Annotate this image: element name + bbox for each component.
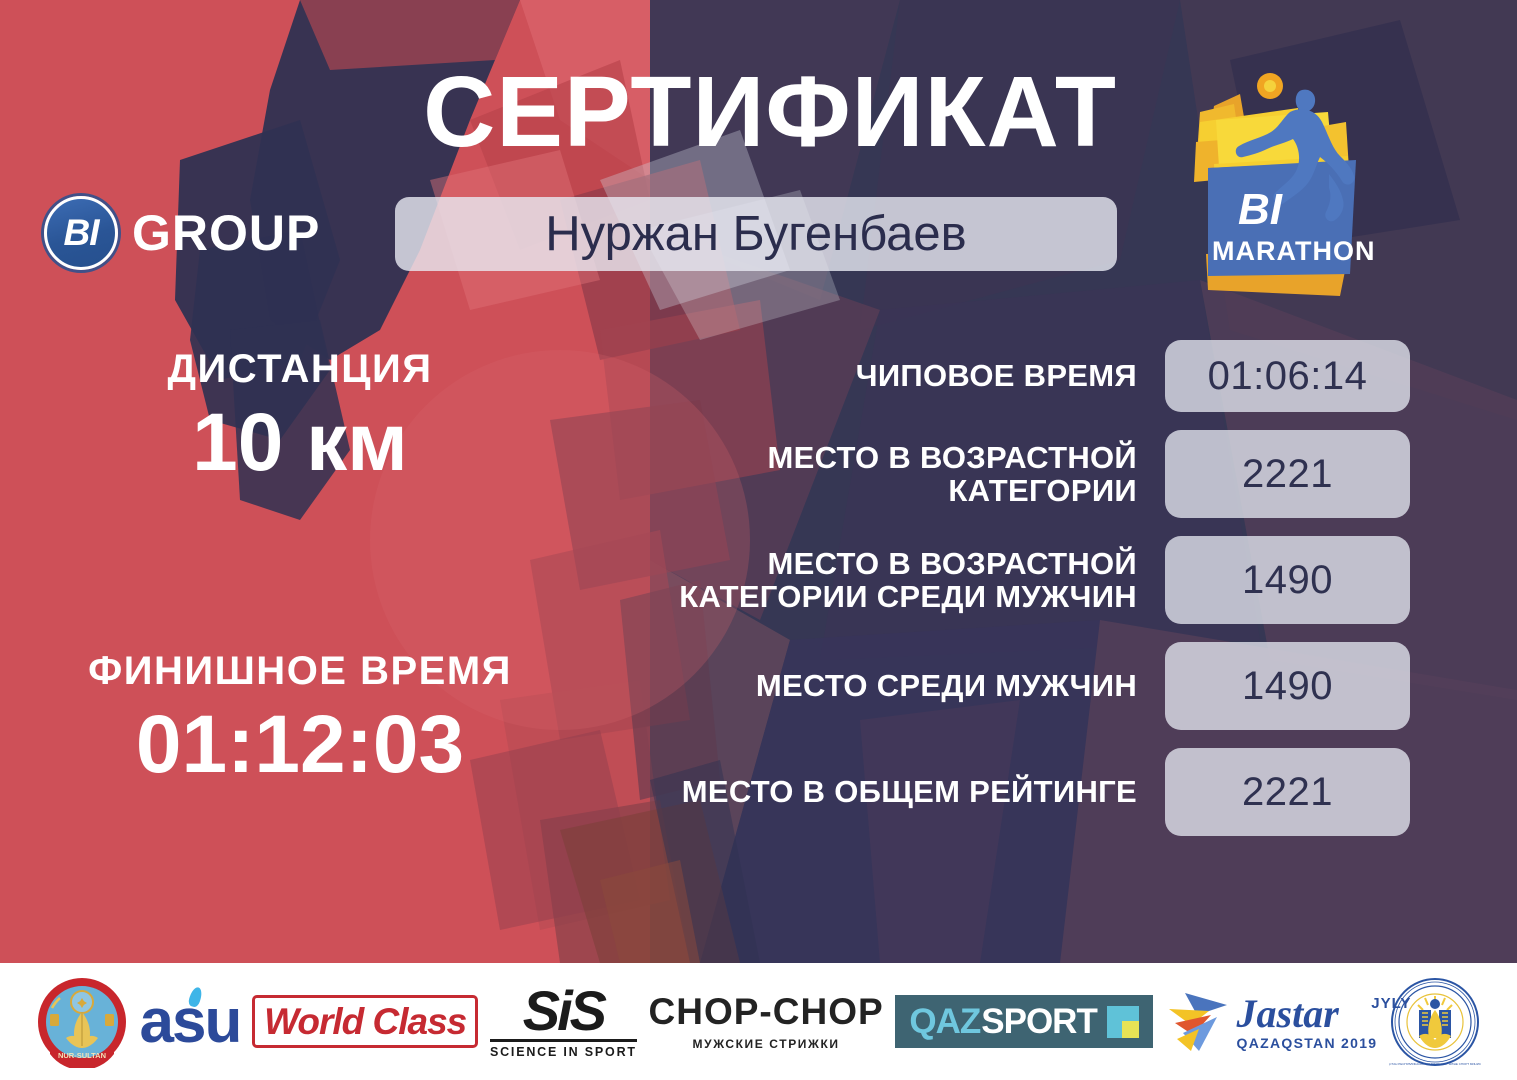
marathon-logo-bi: BI bbox=[1238, 185, 1283, 234]
stat-row: МЕСТО В ВОЗРАСТНОЙ КАТЕГОРИИ 2221 bbox=[620, 430, 1410, 518]
sponsor-nur-sultan: NUR-SULTAN bbox=[36, 974, 128, 1069]
sponsor-jastar-jyly: Jastar JYLY QAZAQSTAN 2019 bbox=[1165, 974, 1378, 1069]
stat-label: МЕСТО В ОБЩЕМ РЕЙТИНГЕ bbox=[620, 775, 1165, 808]
results-stats-list: ЧИПОВОЕ ВРЕМЯ 01:06:14 МЕСТО В ВОЗРАСТНО… bbox=[620, 340, 1410, 836]
jastar-jyly-label: JYLY bbox=[1371, 996, 1411, 1011]
stat-value-pill: 1490 bbox=[1165, 536, 1410, 624]
qazsport-wordmark-part1: QAZ bbox=[909, 1004, 980, 1039]
sponsor-qazsport: QAZ SPORT bbox=[895, 974, 1152, 1069]
jastar-bird-icon bbox=[1165, 989, 1229, 1055]
marathon-logo-word: MARATHON bbox=[1212, 236, 1375, 266]
jastar-wordmark: Jastar bbox=[1237, 994, 1378, 1034]
sponsor-chop-chop: CHOP-CHOP МУЖСКИЕ СТРИЖКИ bbox=[649, 974, 884, 1069]
stat-row: МЕСТО В ВОЗРАСТНОЙ КАТЕГОРИИ СРЕДИ МУЖЧИ… bbox=[620, 536, 1410, 624]
chop-chop-logo-icon: CHOP-CHOP МУЖСКИЕ СТРИЖКИ bbox=[649, 993, 884, 1051]
ministry-emblem-label: ҚАЗАҚСТАН РЕСПУБЛИКАСЫНЫҢ МӘДЕНИЕТ ЖӘНЕ … bbox=[1389, 1062, 1481, 1066]
stat-row: МЕСТО В ОБЩЕМ РЕЙТИНГЕ 2221 bbox=[620, 748, 1410, 836]
chop-chop-tagline: МУЖСКИЕ СТРИЖКИ bbox=[649, 1037, 884, 1051]
jastar-subtitle: QAZAQSTAN 2019 bbox=[1237, 1036, 1378, 1050]
certificate-page: СЕРТИФИКАТ BI GROUP Нуржан Бугенбаев BI … bbox=[0, 0, 1517, 1080]
qazsport-logo-icon: QAZ SPORT bbox=[895, 995, 1152, 1048]
bi-group-logo: BI GROUP bbox=[44, 196, 320, 270]
stat-value: 01:06:14 bbox=[1208, 354, 1368, 399]
bi-badge-label: BI bbox=[64, 212, 99, 254]
sis-wordmark: SiS bbox=[490, 984, 637, 1037]
nur-sultan-emblem-label: NUR-SULTAN bbox=[58, 1051, 106, 1060]
stat-value-pill: 2221 bbox=[1165, 748, 1410, 836]
stat-value-pill: 2221 bbox=[1165, 430, 1410, 518]
nur-sultan-emblem-icon: NUR-SULTAN bbox=[36, 976, 128, 1068]
finish-time-value: 01:12:03 bbox=[60, 701, 540, 790]
distance-block: ДИСТАНЦИЯ 10 км bbox=[60, 348, 540, 488]
jastar-text-block: Jastar JYLY QAZAQSTAN 2019 bbox=[1237, 994, 1378, 1050]
sponsor-world-class: World Class bbox=[252, 974, 478, 1069]
finish-time-block: ФИНИШНОЕ ВРЕМЯ 01:12:03 bbox=[60, 650, 540, 790]
stat-value-pill: 1490 bbox=[1165, 642, 1410, 730]
stat-label: ЧИПОВОЕ ВРЕМЯ bbox=[620, 359, 1165, 392]
sponsor-asu: asu bbox=[140, 974, 241, 1069]
stat-value-pill: 01:06:14 bbox=[1165, 340, 1410, 412]
ministry-emblem-icon: ҚАЗАҚСТАН РЕСПУБЛИКАСЫНЫҢ МӘДЕНИЕТ ЖӘНЕ … bbox=[1389, 976, 1481, 1068]
bi-badge-icon: BI bbox=[44, 196, 118, 270]
bi-marathon-logo: BI MARATHON bbox=[1178, 64, 1398, 304]
qazsport-wordmark-part2: SPORT bbox=[981, 1004, 1097, 1039]
stat-row: ЧИПОВОЕ ВРЕМЯ 01:06:14 bbox=[620, 340, 1410, 412]
participant-name-field: Нуржан Бугенбаев bbox=[395, 197, 1117, 271]
page-title: СЕРТИФИКАТ bbox=[390, 62, 1150, 162]
world-class-logo-icon: World Class bbox=[252, 995, 478, 1048]
distance-value: 10 км bbox=[60, 399, 540, 488]
stat-value: 2221 bbox=[1242, 452, 1333, 497]
distance-label: ДИСТАНЦИЯ bbox=[60, 348, 540, 391]
finish-time-label: ФИНИШНОЕ ВРЕМЯ bbox=[60, 650, 540, 693]
stat-value: 1490 bbox=[1242, 664, 1333, 709]
sponsor-ministry-of-culture-and-sport: ҚАЗАҚСТАН РЕСПУБЛИКАСЫНЫҢ МӘДЕНИЕТ ЖӘНЕ … bbox=[1389, 974, 1481, 1069]
participant-name: Нуржан Бугенбаев bbox=[545, 206, 966, 262]
stat-value: 1490 bbox=[1242, 558, 1333, 603]
chop-chop-wordmark: CHOP-CHOP bbox=[649, 993, 884, 1030]
world-class-wordmark: World Class bbox=[264, 1003, 466, 1040]
stat-label: МЕСТО В ВОЗРАСТНОЙ КАТЕГОРИИ bbox=[620, 441, 1165, 508]
stat-row: МЕСТО СРЕДИ МУЖЧИН 1490 bbox=[620, 642, 1410, 730]
stat-label: МЕСТО СРЕДИ МУЖЧИН bbox=[620, 669, 1165, 702]
bi-group-wordmark: GROUP bbox=[132, 204, 320, 262]
stat-value: 2221 bbox=[1242, 770, 1333, 815]
stat-label: МЕСТО В ВОЗРАСТНОЙ КАТЕГОРИИ СРЕДИ МУЖЧИ… bbox=[620, 547, 1165, 614]
sponsor-sis: SiS SCIENCE IN SPORT bbox=[490, 974, 637, 1069]
qazsport-square-icon bbox=[1107, 1006, 1139, 1038]
sponsor-bar: NUR-SULTAN asu World Class SiS SCIENCE I… bbox=[0, 963, 1517, 1080]
asu-logo-icon: asu bbox=[140, 991, 241, 1053]
sis-logo-icon: SiS SCIENCE IN SPORT bbox=[490, 984, 637, 1058]
